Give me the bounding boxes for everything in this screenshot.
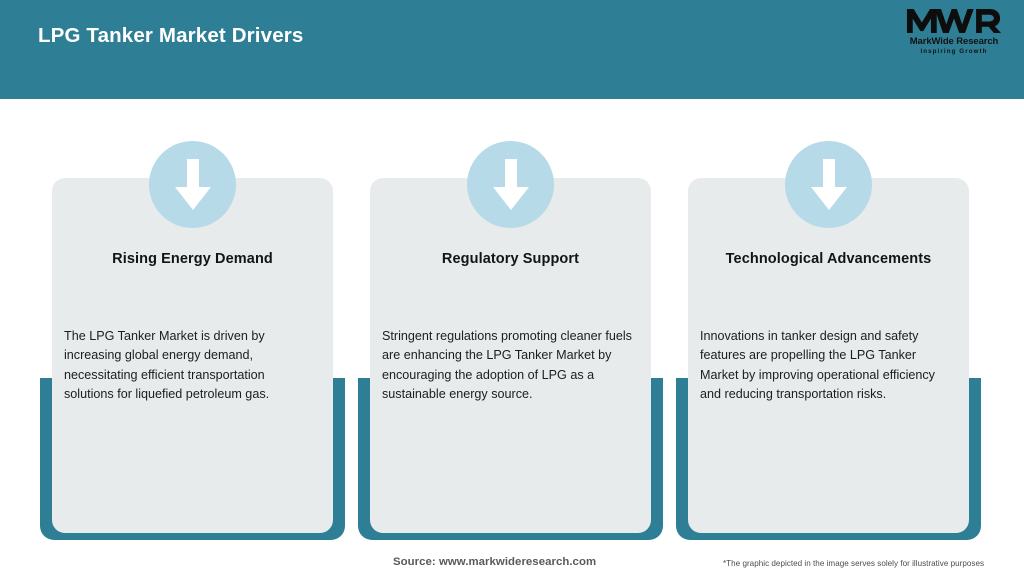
- card-title: Rising Energy Demand: [52, 251, 333, 267]
- arrow-down-icon: [785, 141, 872, 228]
- card-title: Technological Advancements: [688, 251, 969, 267]
- card-title: Regulatory Support: [370, 251, 651, 267]
- header-bar: [0, 0, 1024, 99]
- brand-logo: MarkWide Research Inspiring Growth: [898, 6, 1010, 55]
- card-description: The LPG Tanker Market is driven by incre…: [64, 327, 314, 405]
- source-label: Source: www.markwideresearch.com: [393, 556, 596, 568]
- card-description: Stringent regulations promoting cleaner …: [382, 327, 632, 405]
- arrow-down-glyph: [492, 159, 530, 211]
- arrow-down-glyph: [174, 159, 212, 211]
- mwr-logo-icon: [906, 6, 1002, 36]
- page-title: LPG Tanker Market Drivers: [38, 24, 303, 48]
- arrow-down-glyph: [810, 159, 848, 211]
- card-description: Innovations in tanker design and safety …: [700, 327, 950, 405]
- brand-tagline: Inspiring Growth: [898, 49, 1010, 55]
- arrow-down-icon: [467, 141, 554, 228]
- disclaimer-label: *The graphic depicted in the image serve…: [723, 559, 984, 568]
- arrow-down-icon: [149, 141, 236, 228]
- brand-name: MarkWide Research: [898, 37, 1010, 47]
